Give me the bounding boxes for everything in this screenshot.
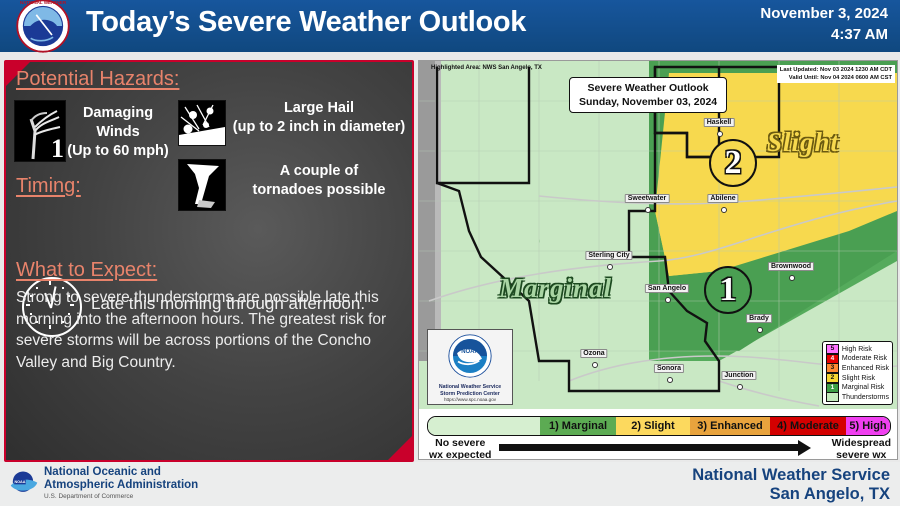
- potential-hazards-heading: Potential Hazards:: [16, 68, 179, 91]
- legend-row: 1Marginal Risk: [826, 383, 889, 393]
- city-dot: [607, 264, 613, 270]
- hazard-line: Large Hail: [284, 100, 354, 116]
- nws-seal-icon: NATIONAL WEATHER: [4, 0, 82, 54]
- city-label: Brownwood: [768, 262, 814, 271]
- header-date: November 3, 2024: [760, 5, 888, 22]
- corner-accent-bottom-right: [388, 436, 412, 460]
- damaging-winds-label: Damaging Winds (Up to 60 mph): [58, 104, 178, 161]
- legend-label: Enhanced Risk: [842, 365, 889, 372]
- legend-swatch: 4: [826, 354, 839, 364]
- city-label: Haskell: [704, 118, 735, 127]
- risk-marker-slight: 2: [709, 139, 757, 187]
- legend-row: 2Slight Risk: [826, 373, 889, 383]
- validity-info: Last Updated: Nov 03 2024 1230 AM CDT Va…: [777, 65, 895, 83]
- outlook-title-line2: Sunday, November 03, 2024: [579, 96, 717, 108]
- map-canvas: Slight Marginal 2 1 Haskell Sweetwater A…: [419, 61, 897, 409]
- city-dot: [645, 207, 651, 213]
- city-label: Sweetwater: [625, 194, 670, 203]
- risk-marker-marginal: 1: [704, 266, 752, 314]
- hazard-line: A couple of: [280, 163, 358, 179]
- timing-heading: Timing:: [16, 175, 81, 198]
- footer-office-line1: National Weather Service: [692, 466, 890, 485]
- city-dot: [737, 384, 743, 390]
- city-label: Abilene: [707, 194, 738, 203]
- city-dot: [665, 297, 671, 303]
- city-dot: [757, 327, 763, 333]
- city-dot: [789, 275, 795, 281]
- legend-swatch: 2: [826, 373, 839, 383]
- scale-low-line1: No severe: [435, 437, 485, 449]
- legend-swatch: [826, 392, 839, 402]
- hazard-line: Damaging: [83, 105, 153, 121]
- legend-label: Marginal Risk: [842, 384, 884, 391]
- highlighted-area-label: Highlighted Area: NWS San Angelo, TX: [431, 65, 542, 71]
- hazard-line: (Up to 60 mph): [67, 143, 169, 159]
- footer-noaa-line3: U.S. Department of Commerce: [44, 493, 133, 500]
- city-label: Sonora: [654, 364, 684, 373]
- what-to-expect-heading: What to Expect:: [16, 259, 157, 282]
- legend-swatch: 1: [826, 383, 839, 393]
- scale-segment-marginal: 1) Marginal: [540, 417, 616, 435]
- noaa-footer-logo-icon: NOAA: [6, 466, 40, 500]
- spc-url: https://www.spc.noaa.gov: [428, 397, 512, 402]
- scale-segment-enhanced: 3) Enhanced: [690, 417, 770, 435]
- what-to-expect-text: Strong to severe thunderstorms are possi…: [16, 287, 402, 373]
- svg-text:NOAA: NOAA: [14, 480, 25, 484]
- scale-segment-slight: 2) Slight: [616, 417, 690, 435]
- risk-scale-bar: 1) Marginal 2) Slight 3) Enhanced 4) Mod…: [427, 416, 891, 436]
- page-title: Today’s Severe Weather Outlook: [86, 6, 526, 39]
- svg-text:NOAA: NOAA: [461, 349, 479, 355]
- hazard-line: tornadoes possible: [253, 182, 386, 198]
- hazard-line: (up to 2 inch in diameter): [233, 119, 405, 135]
- outlook-title-box: Severe Weather Outlook Sunday, November …: [569, 77, 727, 113]
- spc-caption-line1: National Weather Service: [428, 384, 512, 391]
- legend-row: 5High Risk: [826, 344, 889, 354]
- city-label: Junction: [721, 371, 756, 380]
- hazard-line: Winds: [96, 124, 139, 140]
- city-dot: [667, 377, 673, 383]
- legend-row: Thunderstorms: [826, 392, 889, 402]
- footer-noaa-line2: Atmospheric Administration: [44, 479, 198, 491]
- severe-weather-outlook-map[interactable]: Slight Marginal 2 1 Haskell Sweetwater A…: [418, 60, 898, 460]
- legend-label: Thunderstorms: [842, 394, 889, 401]
- legend-label: Slight Risk: [842, 375, 875, 382]
- scale-segment-moderate: 4) Moderate: [770, 417, 846, 435]
- large-hail-icon: [178, 100, 226, 146]
- legend-row: 4Moderate Risk: [826, 354, 889, 364]
- header-time: 4:37 AM: [831, 26, 888, 43]
- spc-logo-box: NOAA National Weather Service Storm Pred…: [427, 329, 513, 405]
- legend-label: Moderate Risk: [842, 355, 887, 362]
- city-dot: [717, 131, 723, 137]
- large-hail-label: Large Hail (up to 2 inch in diameter): [224, 99, 414, 137]
- map-risk-legend: 5High Risk 4Moderate Risk 3Enhanced Risk…: [822, 341, 893, 405]
- tornado-icon: [178, 159, 226, 211]
- area-label-slight: Slight: [767, 127, 839, 158]
- header-bar: NATIONAL WEATHER Today’s Severe Weather …: [0, 0, 900, 52]
- footer-bar: NOAA National Oceanic and Atmospheric Ad…: [0, 462, 900, 506]
- outlook-title-line1: Severe Weather Outlook: [587, 82, 708, 94]
- city-label: Brady: [746, 314, 772, 323]
- legend-row: 3Enhanced Risk: [826, 364, 889, 374]
- city-dot: [721, 207, 727, 213]
- legend-swatch: 3: [826, 363, 839, 373]
- scale-high-line2: severe wx: [836, 449, 886, 460]
- scale-high-line1: Widespread: [832, 437, 891, 449]
- scale-low-line2: wx expected: [429, 449, 491, 460]
- scale-low-label: No severe wx expected: [429, 437, 491, 460]
- scale-segment-none: [428, 417, 540, 435]
- left-info-panel: Potential Hazards: 1 Damaging Winds (Up …: [4, 60, 414, 462]
- area-label-marginal: Marginal: [499, 273, 612, 304]
- city-label: San Angelo: [645, 284, 689, 293]
- footer-noaa-line1: National Oceanic and: [44, 466, 161, 478]
- tornado-label: A couple of tornadoes possible: [224, 162, 414, 200]
- city-label: Ozona: [580, 349, 607, 358]
- last-updated-text: Last Updated: Nov 03 2024 1230 AM CDT: [780, 67, 892, 73]
- legend-swatch: 5: [826, 344, 839, 354]
- city-label: Sterling City: [585, 251, 632, 260]
- scale-high-label: Widespread severe wx: [832, 437, 891, 460]
- footer-office-line2: San Angelo, TX: [770, 485, 890, 504]
- scale-segment-high: 5) High: [846, 417, 890, 435]
- scale-arrow-icon: [499, 444, 799, 451]
- valid-until-text: Valid Until: Nov 04 2024 0600 AM CST: [789, 75, 892, 81]
- city-dot: [592, 362, 598, 368]
- noaa-logo-icon: NOAA: [447, 333, 493, 379]
- weather-outlook-graphic: NATIONAL WEATHER Today’s Severe Weather …: [0, 0, 900, 506]
- legend-label: High Risk: [842, 346, 872, 353]
- svg-text:NATIONAL WEATHER: NATIONAL WEATHER: [20, 0, 67, 5]
